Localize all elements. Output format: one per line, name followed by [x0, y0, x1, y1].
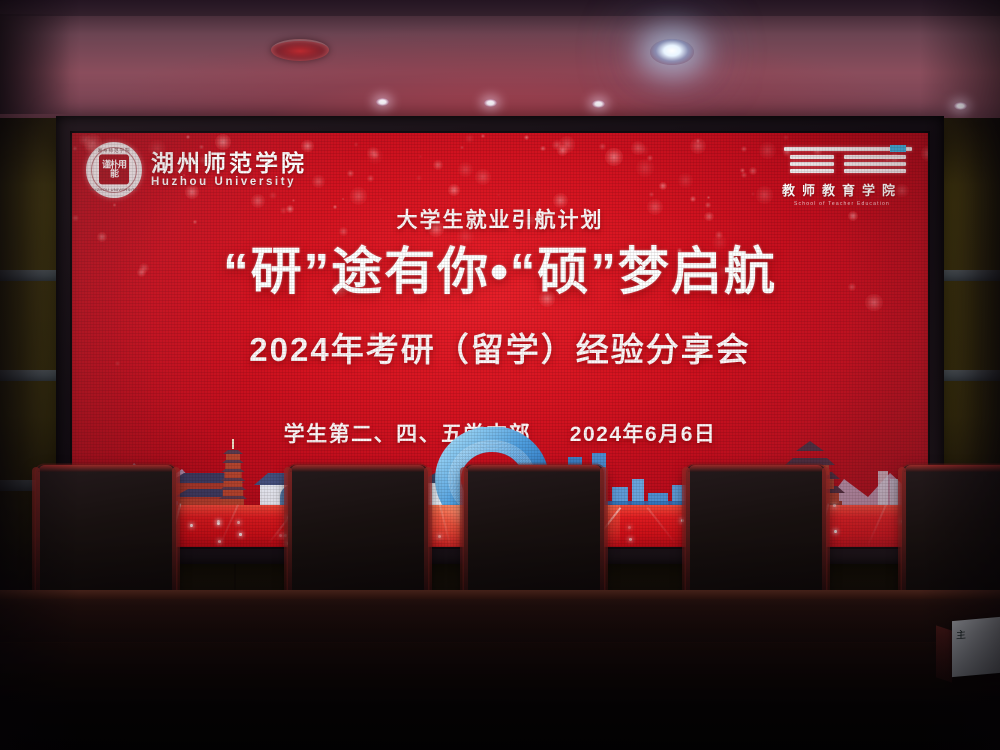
college-logo-bars-icon: [772, 145, 912, 179]
table-edge: [0, 590, 1000, 599]
ground-sparkle: [834, 530, 837, 533]
bokeh-particle: [751, 192, 755, 196]
name-card-stand: [936, 625, 952, 682]
bokeh-particle: [448, 184, 460, 196]
ground-sparkle: [190, 524, 193, 527]
seal-top-text: 湖州师范学院: [87, 148, 141, 154]
event-main-title: “研”途有你•“硕”梦启航: [72, 243, 928, 300]
university-name-cn: 湖州师范学院: [151, 151, 307, 175]
chair-headrest: [904, 465, 1000, 472]
table-front-panel: [0, 642, 1000, 750]
bokeh-particle: [475, 169, 491, 185]
chair-headrest: [290, 465, 426, 472]
bokeh-particle: [557, 145, 568, 156]
bokeh-particle: [347, 170, 355, 178]
bokeh-particle: [605, 148, 623, 166]
ceiling: [0, 0, 1000, 132]
ceiling-left-shadow: [0, 14, 70, 114]
college-logo-accent-icon: [890, 145, 906, 152]
bokeh-particle: [524, 135, 529, 140]
chair-headrest: [38, 465, 174, 472]
downlight-3: [592, 100, 605, 108]
bokeh-particle: [707, 196, 710, 199]
conference-room-scene: 湖州师范学院 谨朴用能 HUZHOU UNIVERSITY 湖州师范学院 Huz…: [0, 0, 1000, 750]
bokeh-particle: [292, 199, 295, 202]
university-logo: 湖州师范学院 谨朴用能 HUZHOU UNIVERSITY 湖州师范学院 Huz…: [86, 142, 307, 198]
bokeh-particle: [186, 135, 190, 139]
conference-table: [0, 590, 1000, 750]
name-card: 主: [952, 617, 1000, 677]
downlight-4: [954, 102, 967, 110]
seal-bottom-text: HUZHOU UNIVERSITY: [87, 187, 141, 192]
downlight-2: [484, 99, 497, 107]
chair-5[interactable]: [902, 465, 1000, 600]
bokeh-particle: [649, 192, 654, 197]
drum-tower-top-roof: [796, 441, 824, 451]
bokeh-particle: [372, 151, 380, 159]
pagoda-tier-4: [224, 472, 241, 478]
university-seal-icon: 湖州师范学院 谨朴用能 HUZHOU UNIVERSITY: [86, 142, 142, 198]
program-kicker: 大学生就业引航计划: [72, 204, 928, 234]
pagoda-tier-2: [223, 490, 243, 496]
bokeh-particle: [783, 135, 789, 141]
recessed-downlight-unlit: [271, 39, 329, 61]
bokeh-particle: [599, 143, 606, 150]
bokeh-particle: [367, 147, 378, 158]
bokeh-particle: [532, 308, 534, 310]
university-name-en: Huzhou University: [151, 176, 307, 189]
bokeh-particle: [380, 198, 382, 200]
bokeh-particle: [419, 155, 423, 159]
bokeh-particle: [636, 159, 654, 177]
bokeh-particle: [416, 175, 422, 181]
college-name-cn: 教师教育学院: [772, 180, 912, 199]
bokeh-particle: [460, 146, 464, 150]
ceiling-upper-shadow: [0, 0, 1000, 16]
downlight-1: [376, 98, 389, 106]
chair-4[interactable]: [686, 465, 826, 600]
bokeh-particle: [73, 146, 78, 151]
bokeh-particle: [559, 136, 575, 152]
bokeh-particle: [741, 172, 747, 178]
chair-1[interactable]: [36, 465, 176, 600]
bokeh-particle: [540, 146, 546, 152]
college-logo: 教师教育学院 School of Teacher Education: [772, 145, 912, 207]
chair-3[interactable]: [464, 465, 604, 600]
bokeh-particle: [465, 134, 475, 144]
bokeh-particle: [690, 196, 696, 202]
recessed-downlight-lit: [650, 39, 694, 65]
bokeh-particle: [740, 168, 746, 174]
bokeh-particle: [552, 140, 562, 150]
bokeh-particle: [342, 198, 344, 200]
bokeh-particle: [367, 175, 373, 181]
pagoda-finial: [232, 439, 234, 449]
bokeh-particle: [631, 141, 645, 155]
bokeh-particle: [638, 144, 649, 155]
bokeh-particle: [312, 175, 325, 188]
bokeh-particle: [696, 139, 700, 143]
bokeh-particle: [741, 146, 748, 153]
bokeh-particle: [458, 162, 473, 177]
bokeh-particle: [497, 194, 499, 196]
pagoda-tier-5: [225, 463, 241, 469]
pagoda-tier-6: [226, 454, 240, 460]
pagoda-eave-6: [223, 450, 243, 454]
bokeh-particle: [354, 142, 358, 146]
event-subtitle: 2024年考研（留学）经验分享会: [72, 323, 928, 371]
bokeh-particle: [433, 160, 443, 170]
bokeh-particle: [921, 146, 928, 161]
bokeh-particle: [367, 148, 383, 164]
pagoda-tier-3: [224, 481, 243, 487]
bokeh-particle: [749, 167, 757, 175]
bokeh-particle: [647, 155, 653, 161]
bokeh-particle: [690, 138, 706, 154]
bokeh-particle: [659, 182, 667, 190]
bokeh-particle: [350, 187, 367, 204]
chair-headrest: [466, 465, 602, 472]
chair-headrest: [688, 465, 824, 472]
chair-2[interactable]: [288, 465, 428, 600]
drum-tower-eave-3: [785, 458, 835, 465]
bokeh-particle: [678, 173, 693, 188]
foreground-furniture: 主: [0, 535, 1000, 750]
bokeh-particle: [481, 134, 485, 138]
bokeh-particle: [756, 186, 773, 203]
seal-core-text: 谨朴用能: [99, 154, 129, 184]
